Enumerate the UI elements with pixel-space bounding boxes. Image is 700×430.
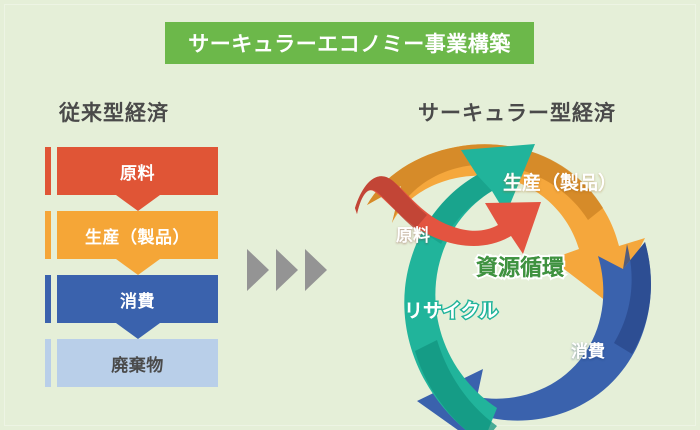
flow-step-tab [45, 339, 51, 387]
chevron-right-icon [247, 249, 269, 291]
circular-economy-heading: サーキュラー型経済 [418, 97, 616, 127]
flow-step-production: 生産（製品） [45, 211, 218, 259]
flow-step-tab [45, 147, 51, 195]
flow-step-arrow-icon [57, 195, 218, 211]
flow-step-bar: 消費 [57, 275, 218, 323]
flow-step-raw-material: 原料 [45, 147, 218, 195]
chevron-right-icon [276, 249, 298, 291]
flow-step-label: 原料 [120, 159, 155, 184]
flow-step-label: 消費 [120, 287, 155, 312]
flow-step-arrow-icon [57, 323, 218, 339]
flow-step-tab [45, 275, 51, 323]
circular-economy-diagram [355, 130, 695, 430]
infographic-canvas: サーキュラーエコノミー事業構築 従来型経済 サーキュラー型経済 原料 生産（製品… [0, 0, 700, 430]
chevron-right-icon [305, 249, 327, 291]
flow-step-consumption: 消費 [45, 275, 218, 323]
flow-step-label: 廃棄物 [111, 351, 164, 376]
flow-step-bar: 廃棄物 [57, 339, 218, 387]
linear-economy-flow: 原料 生産（製品） 消費 [0, 0, 240, 430]
flow-step-bar: 原料 [57, 147, 218, 195]
flow-step-bar: 生産（製品） [57, 211, 218, 259]
flow-step-arrow-icon [57, 259, 218, 275]
transition-chevrons [247, 249, 337, 291]
flow-step-label: 生産（製品） [85, 223, 190, 248]
flow-step-waste: 廃棄物 [45, 339, 218, 387]
flow-step-tab [45, 211, 51, 259]
